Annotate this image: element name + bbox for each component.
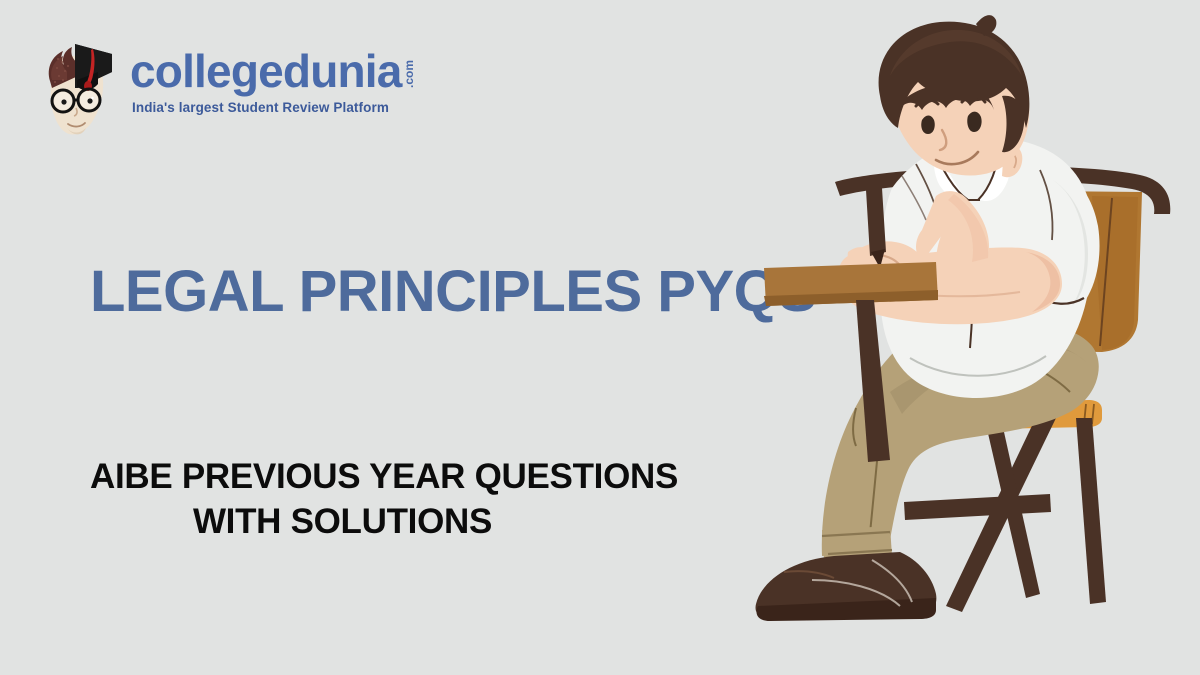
collegedunia-mascot-icon (34, 36, 122, 144)
logo-brand-text: collegedunia (130, 48, 402, 94)
page-title: LEGAL PRINCIPLES PYQS (90, 263, 816, 321)
promo-banner: collegedunia .com India's largest Studen… (0, 0, 1200, 675)
logo-tagline: India's largest Student Review Platform (132, 100, 415, 115)
student-writing-illustration (740, 0, 1200, 675)
logo-text: collegedunia .com India's largest Studen… (130, 36, 415, 115)
page-subtitle-line-1: AIBE PREVIOUS YEAR QUESTIONS (90, 455, 740, 500)
page-subtitle: AIBE PREVIOUS YEAR QUESTIONS WITH SOLUTI… (90, 455, 740, 545)
page-subtitle-line-2: WITH SOLUTIONS (90, 500, 740, 545)
shoes (756, 552, 937, 621)
head (879, 15, 1030, 177)
logo-tld-text: .com (403, 60, 415, 88)
collegedunia-logo[interactable]: collegedunia .com India's largest Studen… (34, 36, 415, 144)
